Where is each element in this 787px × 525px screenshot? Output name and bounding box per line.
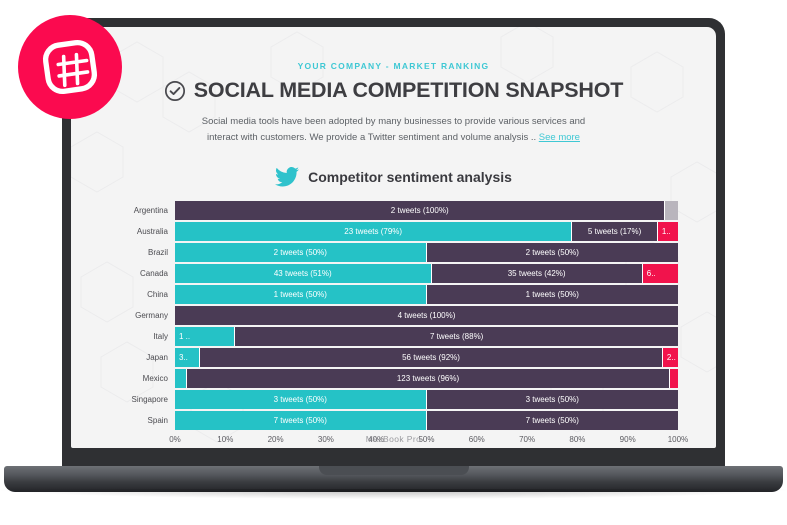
description-text: Social media tools have been adopted by … (194, 114, 594, 145)
bar-segment-neutral[interactable]: 123 tweets (96%) (187, 369, 670, 388)
bar-track: 2 tweets (100%) (175, 201, 678, 220)
category-label: China (109, 290, 175, 299)
category-label: Spain (109, 416, 175, 425)
bar-track: 2 tweets (50%)2 tweets (50%) (175, 243, 678, 262)
bar-segment-neutral[interactable]: 4 tweets (100%) (175, 306, 678, 325)
bar-segment-positive[interactable]: 23 tweets (79%) (175, 222, 572, 241)
hashtag-rounded-square-icon (39, 36, 101, 98)
bar-row: Germany4 tweets (100%) (109, 306, 678, 325)
bar-segment-neutral[interactable]: 3 tweets (50%) (427, 390, 679, 409)
category-label: Mexico (109, 374, 175, 383)
bar-segment-negative[interactable]: 1.. (658, 222, 678, 241)
bar-segment-positive[interactable]: 7 tweets (50%) (175, 411, 427, 430)
chart-title: Competitor sentiment analysis (308, 169, 512, 185)
bar-row: Australia23 tweets (79%)5 tweets (17%)1.… (109, 222, 678, 241)
category-label: Germany (109, 311, 175, 320)
bar-track: 4 tweets (100%) (175, 306, 678, 325)
bar-segment-neutral[interactable]: 2 tweets (50%) (427, 243, 679, 262)
category-label: Singapore (109, 395, 175, 404)
chart-title-row: Competitor sentiment analysis (101, 167, 686, 187)
laptop-shadow (0, 489, 787, 499)
hashtag-badge[interactable] (18, 15, 122, 119)
bar-segment-positive[interactable] (175, 369, 187, 388)
twitter-bird-icon (275, 167, 299, 187)
bar-segment-neutral[interactable]: 2 tweets (100%) (175, 201, 665, 220)
bar-segment-positive[interactable]: 2 tweets (50%) (175, 243, 427, 262)
category-label: Brazil (109, 248, 175, 257)
bar-row: China1 tweets (50%)1 tweets (50%) (109, 285, 678, 304)
bar-row: Singapore3 tweets (50%)3 tweets (50%) (109, 390, 678, 409)
bar-segment-neutral[interactable]: 56 tweets (92%) (200, 348, 663, 367)
screenshot-root: YOUR COMPANY - MARKET RANKING SOCIAL MED… (0, 0, 787, 525)
see-more-link[interactable]: See more (539, 132, 580, 143)
page-title: SOCIAL MEDIA COMPETITION SNAPSHOT (194, 78, 623, 103)
bar-track: 123 tweets (96%) (175, 369, 678, 388)
bar-segment-neutral[interactable]: 7 tweets (50%) (427, 411, 679, 430)
bar-segment-positive[interactable]: 3 tweets (50%) (175, 390, 427, 409)
eyebrow-text: YOUR COMPANY - MARKET RANKING (101, 61, 686, 71)
bar-track: 7 tweets (50%)7 tweets (50%) (175, 411, 678, 430)
page-content: YOUR COMPANY - MARKET RANKING SOCIAL MED… (71, 27, 716, 448)
bar-segment-negative[interactable] (670, 369, 678, 388)
bar-segment-positive[interactable]: 1 .. (175, 327, 235, 346)
description-body: Social media tools have been adopted by … (202, 116, 585, 143)
bar-row: Spain7 tweets (50%)7 tweets (50%) (109, 411, 678, 430)
bar-track: 23 tweets (79%)5 tweets (17%)1.. (175, 222, 678, 241)
category-label: Italy (109, 332, 175, 341)
bar-track: 3 tweets (50%)3 tweets (50%) (175, 390, 678, 409)
bar-track: 3..56 tweets (92%)2.. (175, 348, 678, 367)
category-label: Australia (109, 227, 175, 236)
bar-segment-negative[interactable]: 6.. (643, 264, 678, 283)
bar-segment-positive[interactable]: 43 tweets (51%) (175, 264, 432, 283)
bar-rows-container: Argentina2 tweets (100%)Australia23 twee… (109, 201, 678, 430)
bar-segment-negative[interactable]: 2.. (663, 348, 678, 367)
bar-segment-neutral[interactable]: 5 tweets (17%) (572, 222, 658, 241)
bar-segment-neutral[interactable]: 7 tweets (88%) (235, 327, 678, 346)
category-label: Argentina (109, 206, 175, 215)
bar-row: Japan3..56 tweets (92%)2.. (109, 348, 678, 367)
bar-segment-neutral[interactable]: 1 tweets (50%) (427, 285, 679, 304)
bar-segment-neutral[interactable]: 35 tweets (42%) (432, 264, 643, 283)
circle-check-icon (164, 80, 186, 102)
bar-track: 1 tweets (50%)1 tweets (50%) (175, 285, 678, 304)
bar-track: 43 tweets (51%)35 tweets (42%)6.. (175, 264, 678, 283)
category-label: Japan (109, 353, 175, 362)
bar-track: 1 ..7 tweets (88%) (175, 327, 678, 346)
bar-row: Mexico123 tweets (96%) (109, 369, 678, 388)
macbook-pro-label: MacBook Pro (71, 434, 716, 444)
sentiment-bar-chart: Argentina2 tweets (100%)Australia23 twee… (109, 201, 678, 448)
bar-segment-positive[interactable]: 3.. (175, 348, 200, 367)
laptop-lid: YOUR COMPANY - MARKET RANKING SOCIAL MED… (62, 18, 725, 470)
title-row: SOCIAL MEDIA COMPETITION SNAPSHOT (101, 78, 686, 103)
bar-row: Canada43 tweets (51%)35 tweets (42%)6.. (109, 264, 678, 283)
bar-row: Argentina2 tweets (100%) (109, 201, 678, 220)
laptop-screen: YOUR COMPANY - MARKET RANKING SOCIAL MED… (71, 27, 716, 448)
bar-row: Italy1 ..7 tweets (88%) (109, 327, 678, 346)
bar-row: Brazil2 tweets (50%)2 tweets (50%) (109, 243, 678, 262)
category-label: Canada (109, 269, 175, 278)
bar-segment-empty[interactable] (665, 201, 678, 220)
bar-segment-positive[interactable]: 1 tweets (50%) (175, 285, 427, 304)
